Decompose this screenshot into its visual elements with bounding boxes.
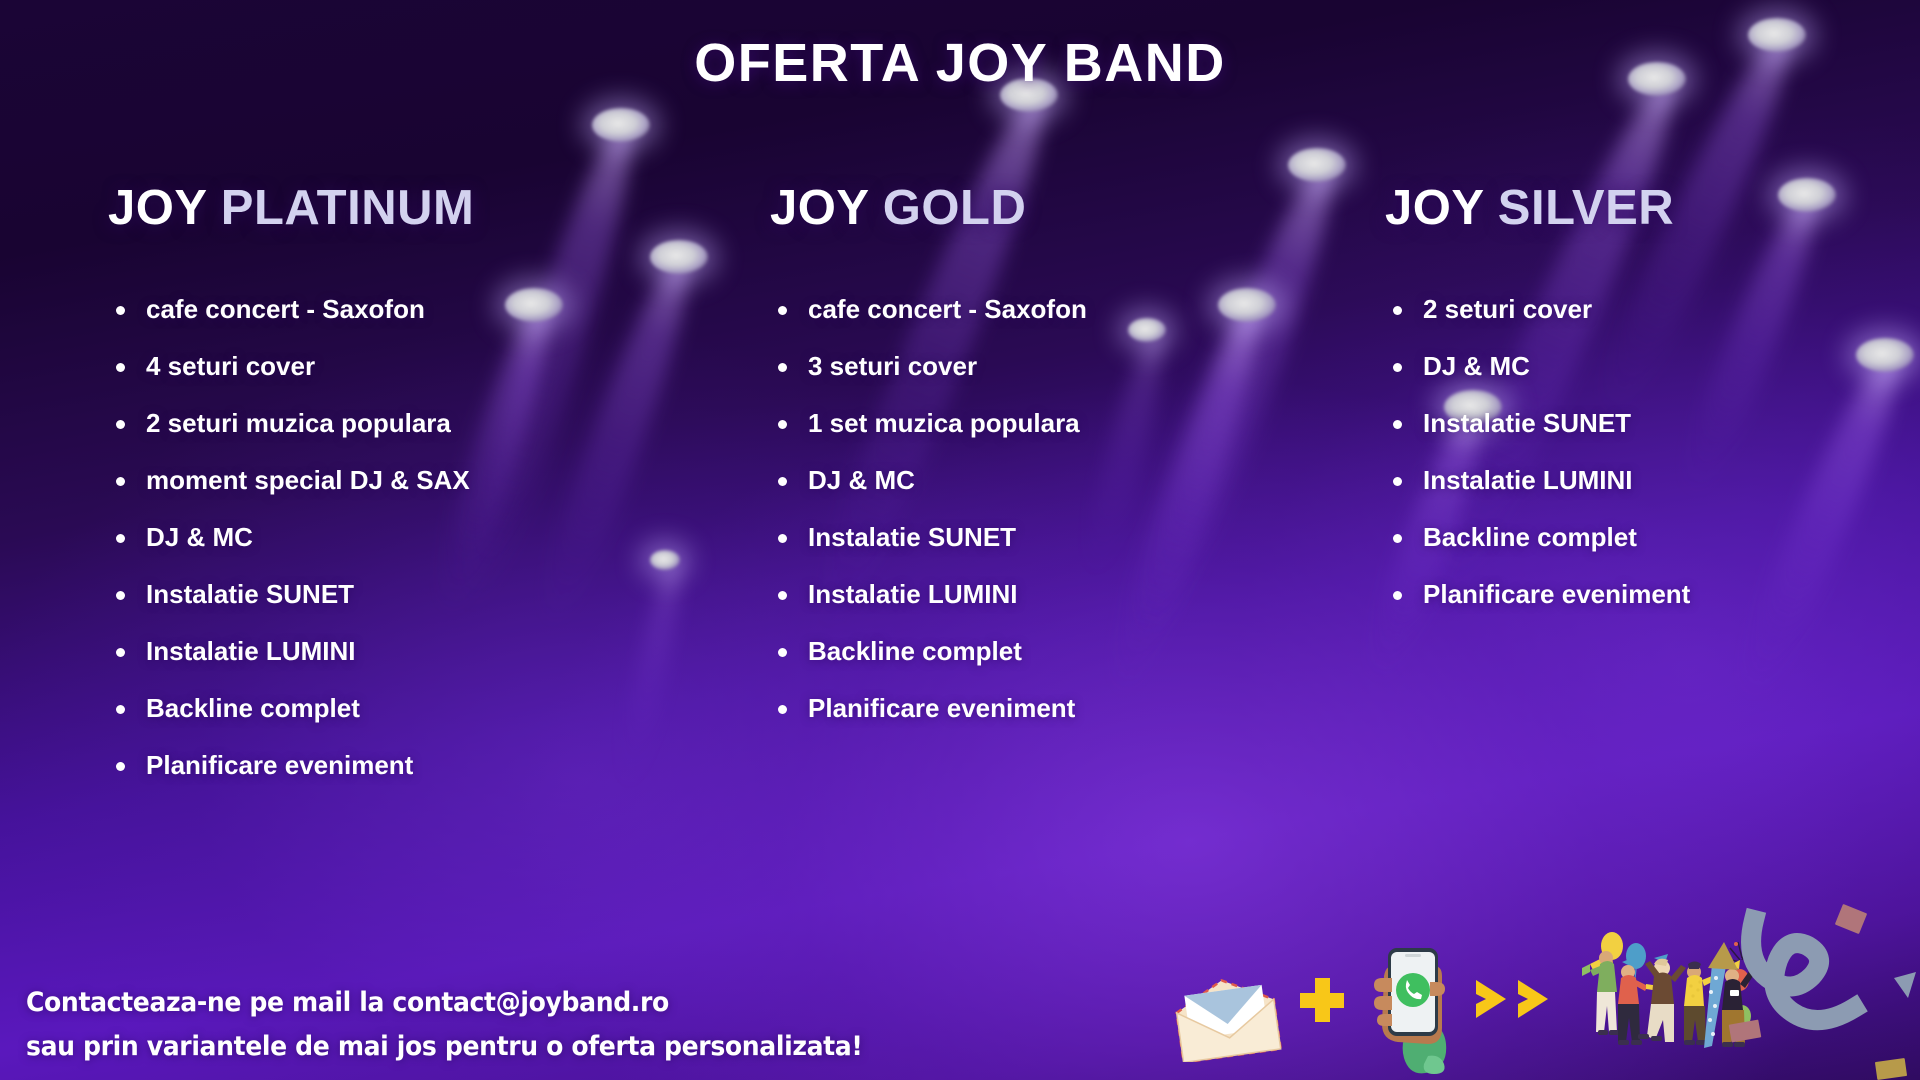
e-logo-icon: [1686, 880, 1916, 1080]
double-chevron-right-icon: [1474, 976, 1560, 1022]
list-item: Backline complet: [108, 695, 740, 721]
list-item: Backline complet: [770, 638, 1360, 664]
list-item: DJ & MC: [770, 467, 1360, 493]
contact-footer: Contacteaza-ne pe mail la contact@joyban…: [26, 987, 925, 1062]
list-item: Planificare eveniment: [1385, 581, 1920, 607]
list-item: Instalatie SUNET: [770, 524, 1360, 550]
feature-list-platinum: cafe concert - Saxofon 4 seturi cover 2 …: [108, 296, 740, 778]
package-title-word1: JOY: [108, 181, 207, 235]
package-title-word2: SILVER: [1498, 181, 1674, 235]
list-item: moment special DJ & SAX: [108, 467, 740, 493]
envelope-icon: [1172, 976, 1282, 1062]
packages-container: JOY PLATINUM cafe concert - Saxofon 4 se…: [0, 180, 1920, 809]
list-item: 2 seturi muzica populara: [108, 410, 740, 436]
package-title-gold: JOY GOLD: [770, 180, 1360, 236]
package-column-platinum: JOY PLATINUM cafe concert - Saxofon 4 se…: [0, 180, 740, 809]
plus-icon: [1300, 978, 1344, 1022]
package-title-word1: JOY: [770, 181, 869, 235]
contact-alternatives-line: sau prin variantele de mai jos pentru o …: [26, 1031, 862, 1062]
list-item: Instalatie SUNET: [108, 581, 740, 607]
list-item: cafe concert - Saxofon: [770, 296, 1360, 322]
list-item: DJ & MC: [108, 524, 740, 550]
package-title-silver: JOY SILVER: [1385, 180, 1920, 236]
package-title-word1: JOY: [1385, 181, 1484, 235]
feature-list-gold: cafe concert - Saxofon 3 seturi cover 1 …: [770, 296, 1360, 721]
phone-whatsapp-icon: [1356, 944, 1468, 1074]
list-item: cafe concert - Saxofon: [108, 296, 740, 322]
offer-poster: OFERTA JOY BAND JOY PLATINUM cafe concer…: [0, 0, 1920, 1080]
list-item: Instalatie LUMINI: [770, 581, 1360, 607]
list-item: 1 set muzica populara: [770, 410, 1360, 436]
contact-graphics: [1160, 890, 1920, 1080]
list-item: Planificare eveniment: [108, 752, 740, 778]
list-item: Backline complet: [1385, 524, 1920, 550]
feature-list-silver: 2 seturi cover DJ & MC Instalatie SUNET …: [1385, 296, 1920, 607]
package-title-word2: PLATINUM: [221, 181, 475, 235]
list-item: Instalatie SUNET: [1385, 410, 1920, 436]
package-column-gold: JOY GOLD cafe concert - Saxofon 3 seturi…: [740, 180, 1360, 809]
contact-email-line: Contacteaza-ne pe mail la contact@joyban…: [26, 987, 862, 1018]
list-item: Instalatie LUMINI: [1385, 467, 1920, 493]
package-title-word2: GOLD: [883, 181, 1027, 235]
list-item: DJ & MC: [1385, 353, 1920, 379]
package-title-platinum: JOY PLATINUM: [108, 180, 740, 236]
package-column-silver: JOY SILVER 2 seturi cover DJ & MC Instal…: [1360, 180, 1920, 809]
page-title: OFERTA JOY BAND: [0, 32, 1920, 94]
light-head: [592, 108, 650, 142]
list-item: 2 seturi cover: [1385, 296, 1920, 322]
list-item: 3 seturi cover: [770, 353, 1360, 379]
light-head: [1288, 148, 1346, 182]
list-item: Instalatie LUMINI: [108, 638, 740, 664]
list-item: 4 seturi cover: [108, 353, 740, 379]
list-item: Planificare eveniment: [770, 695, 1360, 721]
